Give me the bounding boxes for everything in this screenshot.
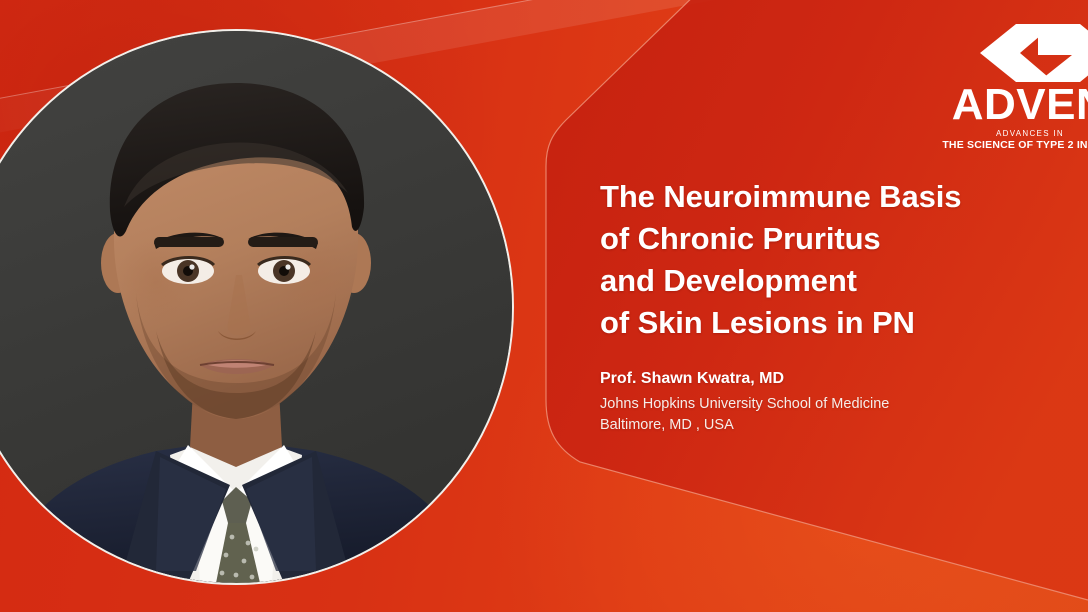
speaker-credit: Prof. Shawn Kwatra, MD Johns Hopkins Uni… (600, 368, 1030, 436)
logo-wordmark: ADVEN (920, 82, 1088, 128)
presentation-title-slide: The Neuroimmune Basis of Chronic Pruritu… (0, 0, 1088, 612)
slide-title: The Neuroimmune Basis of Chronic Pruritu… (600, 176, 1030, 344)
title-line-1: The Neuroimmune Basis (600, 176, 1030, 218)
speaker-affiliation: Johns Hopkins University School of Medic… (600, 394, 1030, 415)
speaker-location: Baltimore, MD , USA (600, 415, 1030, 436)
speaker-photo (0, 29, 514, 585)
title-line-3: and Development (600, 260, 1030, 302)
logo-tagline-main: THE SCIENCE OF TYPE 2 INFLAM (920, 139, 1088, 152)
title-line-2: of Chronic Pruritus (600, 218, 1030, 260)
event-logo: DER ADVEN ADVANCES IN THE SCIENCE OF TYP… (920, 22, 1088, 152)
title-line-4: of Skin Lesions in PN (600, 302, 1030, 344)
chevron-arrow-mark-icon (920, 22, 1088, 84)
logo-tagline-top: ADVANCES IN (920, 128, 1088, 139)
speaker-name: Prof. Shawn Kwatra, MD (600, 368, 1030, 390)
